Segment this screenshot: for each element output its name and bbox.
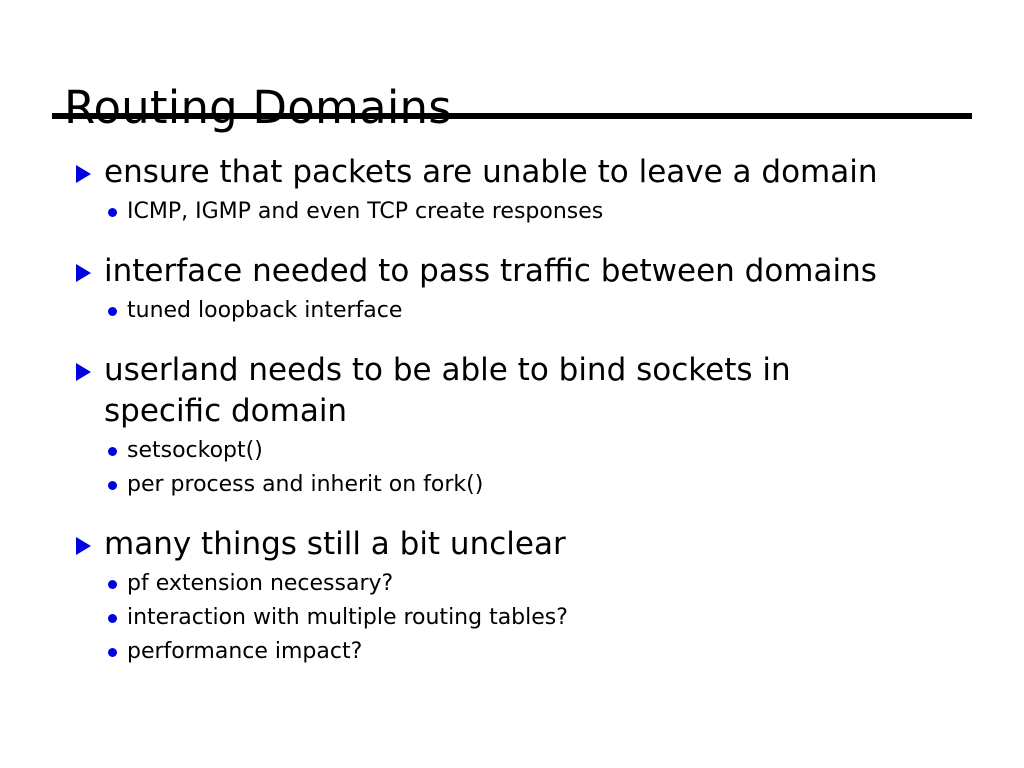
bullet-level2: performance impact? xyxy=(0,635,1024,669)
bullet-level1: ensure that packets are unable to leave … xyxy=(0,152,1024,193)
bullet-level1-label: userland needs to be able to bind socket… xyxy=(104,352,791,429)
bullet-group: many things still a bit unclear pf exten… xyxy=(0,524,1024,669)
bullet-group: userland needs to be able to bind socket… xyxy=(0,350,1024,502)
bullet-level2-label: ICMP, IGMP and even TCP create responses xyxy=(127,199,603,224)
bullet-level1-label: ensure that packets are unable to leave … xyxy=(104,154,878,190)
bullet-level2: setsockopt() xyxy=(0,434,1024,468)
sub-bullet-list: ICMP, IGMP and even TCP create responses xyxy=(0,195,1024,229)
slide: Routing Domains ensure that packets are … xyxy=(0,0,1024,768)
sub-bullet-list: pf extension necessary? interaction with… xyxy=(0,567,1024,669)
dot-icon xyxy=(108,447,117,456)
bullet-level1-label: interface needed to pass traffic between… xyxy=(104,253,877,289)
bullet-level2: interaction with multiple routing tables… xyxy=(0,601,1024,635)
bullet-level2-label: performance impact? xyxy=(127,639,362,664)
sub-bullet-list: setsockopt() per process and inherit on … xyxy=(0,434,1024,502)
bullet-level2-label: setsockopt() xyxy=(127,438,263,463)
dot-icon xyxy=(108,481,117,490)
bullet-level2-label: pf extension necessary? xyxy=(127,571,393,596)
bullet-level2: pf extension necessary? xyxy=(0,567,1024,601)
bullet-level1: userland needs to be able to bind socket… xyxy=(0,350,1024,432)
bullet-list: ensure that packets are unable to leave … xyxy=(0,152,1024,669)
triangle-right-icon xyxy=(76,537,91,555)
bullet-group: interface needed to pass traffic between… xyxy=(0,251,1024,328)
bullet-level1: many things still a bit unclear xyxy=(0,524,1024,565)
page-title: Routing Domains xyxy=(64,81,452,135)
dot-icon xyxy=(108,580,117,589)
bullet-level1-label: many things still a bit unclear xyxy=(104,526,566,562)
triangle-right-icon xyxy=(76,363,91,381)
bullet-level2: ICMP, IGMP and even TCP create responses xyxy=(0,195,1024,229)
dot-icon xyxy=(108,614,117,623)
title-divider xyxy=(52,113,972,119)
bullet-level2-label: tuned loopback interface xyxy=(127,298,402,323)
bullet-level2: per process and inherit on fork() xyxy=(0,468,1024,502)
dot-icon xyxy=(108,307,117,316)
triangle-right-icon xyxy=(76,165,91,183)
bullet-group: ensure that packets are unable to leave … xyxy=(0,152,1024,229)
bullet-level2: tuned loopback interface xyxy=(0,294,1024,328)
sub-bullet-list: tuned loopback interface xyxy=(0,294,1024,328)
bullet-level1: interface needed to pass traffic between… xyxy=(0,251,1024,292)
bullet-level2-label: interaction with multiple routing tables… xyxy=(127,605,568,630)
triangle-right-icon xyxy=(76,264,91,282)
bullet-level2-label: per process and inherit on fork() xyxy=(127,472,483,497)
dot-icon xyxy=(108,208,117,217)
dot-icon xyxy=(108,648,117,657)
